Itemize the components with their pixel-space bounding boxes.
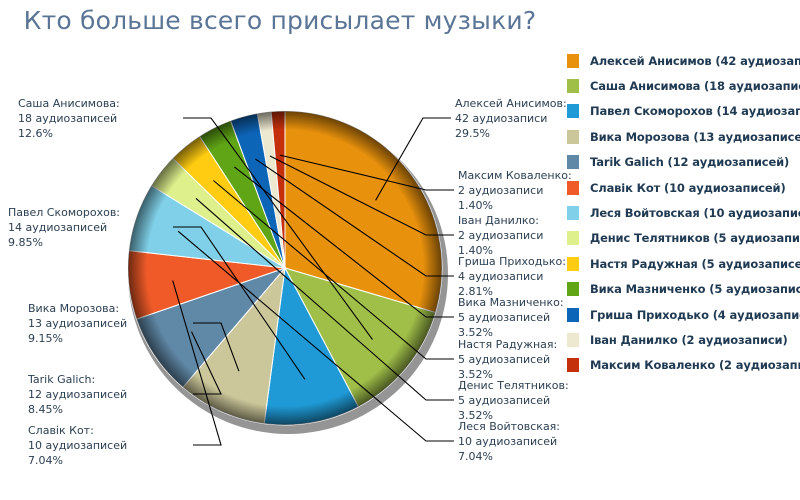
callout-line: Леся Войтовская: — [458, 419, 560, 434]
callout-line: 8.45% — [28, 402, 127, 417]
legend-color-swatch — [567, 155, 579, 169]
callout-line: 12.6% — [18, 126, 120, 141]
legend-item[interactable]: Вика Морозова (13 аудиозаписей) — [563, 124, 800, 149]
legend-item[interactable]: Алексей Анисимов (42 аудиозаписи) — [563, 48, 800, 73]
legend-item[interactable]: Tarik Galich (12 аудиозаписей) — [563, 150, 800, 175]
callout-line: 5 аудиозаписей — [458, 352, 557, 367]
callout-line: 18 аудиозаписей — [18, 111, 120, 126]
callout-line: Денис Телятников: — [458, 378, 569, 393]
callout-line: 13 аудиозаписей — [28, 316, 127, 331]
legend-item-label: Павел Скоморохов (14 аудиозаписей) — [590, 104, 800, 118]
legend-color-swatch — [567, 282, 579, 296]
legend-item-label: Максим Коваленко (2 аудиозаписи) — [590, 358, 800, 372]
callout-line: 10 аудиозаписей — [458, 434, 560, 449]
callout-tarik-galich: Tarik Galich:12 аудиозаписей8.45% — [28, 372, 127, 417]
legend-color-swatch — [567, 257, 579, 271]
legend-item[interactable]: Павел Скоморохов (14 аудиозаписей) — [563, 99, 800, 124]
chart-page: Кто больше всего присылает музыки? Алекс… — [0, 0, 800, 500]
legend-item-label: Славік Кот (10 аудиозаписей) — [590, 181, 786, 195]
legend-color-swatch — [567, 104, 579, 118]
callout-line: 5 аудиозаписей — [458, 393, 569, 408]
callout-line: 2 аудиозаписи — [458, 183, 572, 198]
legend-item-label: Вика Морозова (13 аудиозаписей) — [590, 130, 800, 144]
callout-line: Іван Данилко: — [458, 213, 543, 228]
legend-item[interactable]: Настя Радужная (5 аудиозаписей) — [563, 251, 800, 276]
legend: Алексей Анисимов (42 аудиозаписи)Саша Ан… — [563, 48, 800, 378]
legend-color-swatch — [567, 181, 579, 195]
callout-line: 2 аудиозаписи — [458, 228, 543, 243]
callout-alexey-anisimov: Алексей Анисимов:42 аудиозаписи29.5% — [455, 96, 567, 141]
callout-line: Tarik Galich: — [28, 372, 127, 387]
callout-sasha-anisimova: Саша Анисимова:18 аудиозаписей12.6% — [18, 96, 120, 141]
callout-vika-maznichenko: Вика Мазниченко:5 аудиозаписей3.52% — [458, 295, 564, 340]
callout-vika-morozova: Вика Морозова:13 аудиозаписей9.15% — [28, 301, 127, 346]
callout-line: 14 аудиозаписей — [8, 220, 120, 235]
legend-item[interactable]: Леся Войтовская (10 аудиозаписей) — [563, 200, 800, 225]
callout-nastya-raduzhnaya: Настя Радужная:5 аудиозаписей3.52% — [458, 337, 557, 382]
callout-line: Максим Коваленко: — [458, 168, 572, 183]
legend-item-label: Денис Телятников (5 аудиозаписей) — [590, 231, 800, 245]
legend-item[interactable]: Саша Анисимова (18 аудиозаписей) — [563, 73, 800, 98]
legend-item[interactable]: Славік Кот (10 аудиозаписей) — [563, 175, 800, 200]
callout-line: 9.85% — [8, 235, 120, 250]
callout-line: 1.40% — [458, 198, 572, 213]
legend-item-label: Гриша Приходько (4 аудиозаписи) — [590, 308, 800, 322]
callout-slavik-kot: Славік Кот:10 аудиозаписей7.04% — [28, 423, 127, 468]
callout-line: Саша Анисимова: — [18, 96, 120, 111]
legend-item-label: Іван Данилко (2 аудиозаписи) — [590, 333, 788, 347]
legend-item[interactable]: Максим Коваленко (2 аудиозаписи) — [563, 353, 800, 378]
callout-line: Вика Мазниченко: — [458, 295, 564, 310]
callout-line: 29.5% — [455, 126, 567, 141]
legend-item-label: Леся Войтовская (10 аудиозаписей) — [590, 206, 800, 220]
callout-grisha-prihodko: Гриша Приходько:4 аудиозаписи2.81% — [458, 254, 566, 299]
callout-denis-telyatnikov: Денис Телятников:5 аудиозаписей3.52% — [458, 378, 569, 423]
legend-item[interactable]: Денис Телятников (5 аудиозаписей) — [563, 226, 800, 251]
legend-color-swatch — [567, 130, 579, 144]
legend-item[interactable]: Іван Данилко (2 аудиозаписи) — [563, 327, 800, 352]
callout-line: Гриша Приходько: — [458, 254, 566, 269]
callout-line: 12 аудиозаписей — [28, 387, 127, 402]
callout-ivan-danilko: Іван Данилко:2 аудиозаписи1.40% — [458, 213, 543, 258]
callout-line: 10 аудиозаписей — [28, 438, 127, 453]
legend-color-swatch — [567, 231, 579, 245]
legend-item[interactable]: Вика Мазниченко (5 аудиозаписей) — [563, 277, 800, 302]
callout-line: 7.04% — [458, 449, 560, 464]
legend-item-label: Саша Анисимова (18 аудиозаписей) — [590, 79, 800, 93]
callout-line: 42 аудиозаписи — [455, 111, 567, 126]
callout-pavel-skomorohov: Павел Скоморохов:14 аудиозаписей9.85% — [8, 205, 120, 250]
callout-maksim-kovalenko: Максим Коваленко:2 аудиозаписи1.40% — [458, 168, 572, 213]
callout-line: Павел Скоморохов: — [8, 205, 120, 220]
legend-item-label: Tarik Galich (12 аудиозаписей) — [590, 155, 789, 169]
callout-lesya-voytovskaya: Леся Войтовская:10 аудиозаписей7.04% — [458, 419, 560, 464]
legend-item-label: Вика Мазниченко (5 аудиозаписей) — [590, 282, 800, 296]
callout-line: 5 аудиозаписей — [458, 310, 564, 325]
callout-line: 4 аудиозаписи — [458, 269, 566, 284]
callout-line: 7.04% — [28, 453, 127, 468]
callout-line: Вика Морозова: — [28, 301, 127, 316]
legend-item-label: Настя Радужная (5 аудиозаписей) — [590, 257, 800, 271]
legend-color-swatch — [567, 54, 579, 68]
callout-line: Настя Радужная: — [458, 337, 557, 352]
callout-line: 9.15% — [28, 331, 127, 346]
callout-line: Алексей Анисимов: — [455, 96, 567, 111]
legend-item-label: Алексей Анисимов (42 аудиозаписи) — [590, 54, 800, 68]
legend-item[interactable]: Гриша Приходько (4 аудиозаписи) — [563, 302, 800, 327]
callout-line: Славік Кот: — [28, 423, 127, 438]
legend-color-swatch — [567, 206, 579, 220]
legend-color-swatch — [567, 358, 579, 372]
legend-color-swatch — [567, 308, 579, 322]
legend-color-swatch — [567, 79, 579, 93]
legend-color-swatch — [567, 333, 579, 347]
pie-slices — [128, 111, 442, 425]
